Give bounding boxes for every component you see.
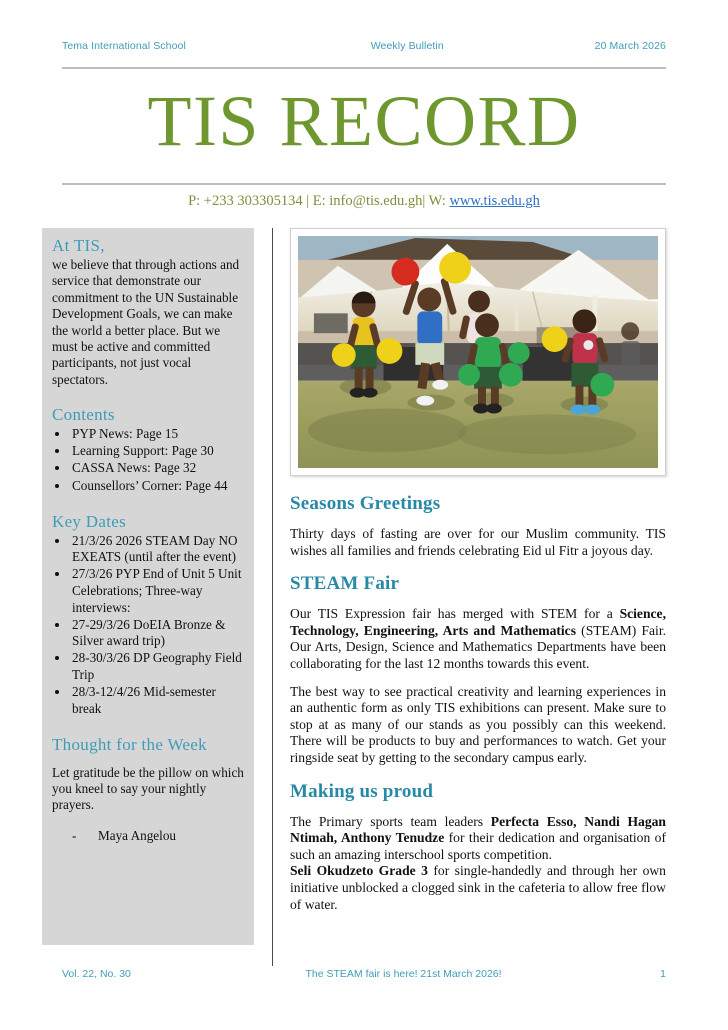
header-date: 20 March 2026 bbox=[595, 40, 666, 52]
footer-volume: Vol. 22, No. 30 bbox=[62, 968, 131, 980]
footer-tagline: The STEAM fair is here! 21st March 2026! bbox=[305, 968, 501, 980]
header-divider-rule bbox=[62, 67, 666, 69]
header-school-name: Tema International School bbox=[62, 40, 186, 52]
body-text: The Primary sports team leaders bbox=[290, 814, 491, 829]
key-dates-heading: Key Dates bbox=[52, 512, 244, 532]
article-steam-fair: STEAM Fair Our TIS Expression fair has m… bbox=[290, 573, 666, 766]
attribution-dash: - bbox=[72, 828, 98, 844]
body-text: Thirty days of fasting are over for our … bbox=[290, 526, 666, 558]
contents-heading: Contents bbox=[52, 405, 244, 425]
thought-body: Let gratitude be the pillow on which you… bbox=[52, 765, 244, 814]
contact-line: P: +233 303305134 | E: info@tis.edu.gh| … bbox=[0, 193, 728, 210]
list-item: 21/3/26 2026 STEAM Day NO EXEATS (until … bbox=[70, 533, 244, 566]
at-tis-heading: At TIS, bbox=[52, 236, 244, 256]
list-item: 27-29/3/26 DoEIA Bronze & Silver award t… bbox=[70, 617, 244, 650]
thought-heading: Thought for the Week bbox=[52, 735, 244, 755]
key-dates-list: 21/3/26 2026 STEAM Day NO EXEATS (until … bbox=[52, 533, 244, 718]
list-item: 27/3/26 PYP End of Unit 5 Unit Celebrati… bbox=[70, 566, 244, 616]
article-heading: Making us proud bbox=[290, 781, 666, 803]
contact-phone-email: P: +233 303305134 | E: info@tis.edu.gh| … bbox=[188, 193, 449, 209]
header-bulletin-label: Weekly Bulletin bbox=[371, 40, 444, 52]
article-paragraph: Seli Okudzeto Grade 3 for single-handedl… bbox=[290, 863, 666, 913]
newsletter-page: Tema International School Weekly Bulleti… bbox=[0, 0, 728, 1030]
cheerleaders-photo: Five primary school pupils in yellow, bl… bbox=[298, 236, 658, 468]
list-item[interactable]: Learning Support: Page 30 bbox=[70, 443, 244, 460]
emphasis-text: Seli Okudzeto Grade 3 bbox=[290, 863, 428, 878]
publication-title: TIS RECORD bbox=[0, 78, 728, 164]
page-header: Tema International School Weekly Bulleti… bbox=[62, 40, 666, 52]
attribution-name: Maya Angelou bbox=[98, 828, 176, 843]
masthead: TIS RECORD bbox=[0, 78, 728, 164]
page-footer: Vol. 22, No. 30 The STEAM fair is here! … bbox=[62, 968, 666, 980]
list-item[interactable]: Counsellors’ Corner: Page 44 bbox=[70, 478, 244, 495]
body-text: Our TIS Expression fair has merged with … bbox=[290, 606, 620, 621]
list-item: 28-30/3/26 DP Geography Field Trip bbox=[70, 650, 244, 683]
article-paragraph: The best way to see practical creativity… bbox=[290, 684, 666, 767]
sidebar: At TIS, we believe that through actions … bbox=[42, 228, 254, 945]
list-item: 28/3-12/4/26 Mid-semester break bbox=[70, 684, 244, 717]
main-content: Five primary school pupils in yellow, bl… bbox=[290, 228, 666, 913]
list-item[interactable]: CASSA News: Page 32 bbox=[70, 460, 244, 477]
contents-list: PYP News: Page 15 Learning Support: Page… bbox=[52, 426, 244, 494]
body-text: The best way to see practical creativity… bbox=[290, 684, 666, 765]
at-tis-body: we believe that through actions and serv… bbox=[52, 257, 244, 388]
article-heading: STEAM Fair bbox=[290, 573, 666, 595]
article-making-us-proud: Making us proud The Primary sports team … bbox=[290, 781, 666, 914]
article-paragraph: Our TIS Expression fair has merged with … bbox=[290, 606, 666, 672]
thought-attribution: -Maya Angelou bbox=[52, 828, 244, 844]
article-seasons-greetings: Seasons Greetings Thirty days of fasting… bbox=[290, 493, 666, 559]
list-item[interactable]: PYP News: Page 15 bbox=[70, 426, 244, 443]
masthead-divider-rule bbox=[62, 183, 666, 185]
article-heading: Seasons Greetings bbox=[290, 493, 666, 515]
article-paragraph: Thirty days of fasting are over for our … bbox=[290, 526, 666, 559]
column-divider bbox=[272, 228, 273, 966]
feature-photo-frame: Five primary school pupils in yellow, bl… bbox=[290, 228, 666, 476]
article-paragraph: The Primary sports team leaders Perfecta… bbox=[290, 814, 666, 864]
footer-page-number: 1 bbox=[660, 968, 666, 980]
website-link[interactable]: www.tis.edu.gh bbox=[449, 193, 539, 209]
